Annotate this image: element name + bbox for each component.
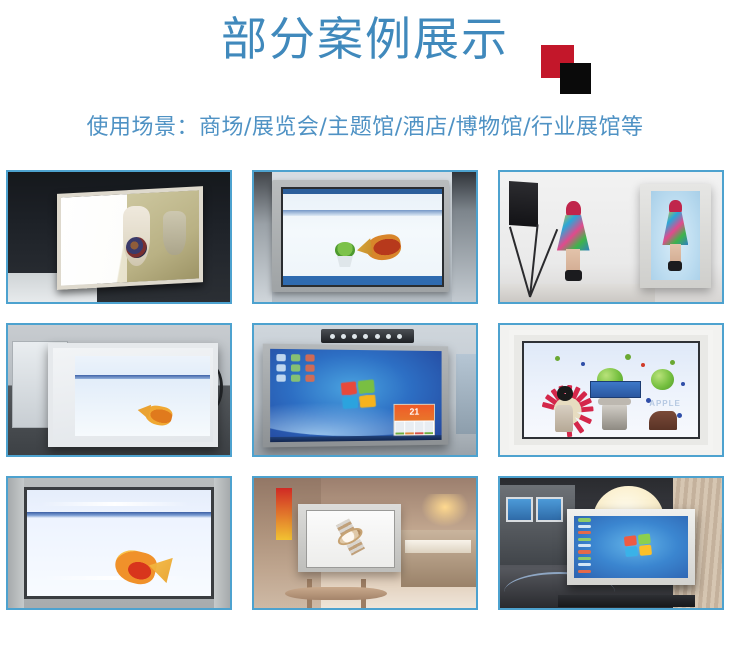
hologram-dress-shape: [662, 212, 688, 245]
water-line-shape: [27, 512, 212, 517]
weather-widget: 21: [394, 403, 436, 436]
right-cabinet-decor: [456, 354, 476, 435]
display-box-inner: [306, 510, 396, 567]
desktop-icons-group: [578, 518, 592, 572]
display-base-shape: [558, 595, 696, 607]
pot-shape: [337, 256, 353, 268]
photo-cosmetics-transparent-showcase: APPLE: [500, 325, 722, 455]
display-screen-shape: [281, 187, 445, 287]
page-header: 部分案例展示 使用场景：商场/展览会/主题馆/酒店/博物馆/行业展馆等: [0, 0, 730, 160]
photo-expo-transparent-display-win7: [500, 478, 722, 608]
display-frame-shape: [272, 180, 450, 292]
photo-showcase-aquarium: [8, 325, 230, 455]
water-line-shape: [283, 210, 443, 217]
jewelry-counter-shape: [401, 530, 476, 587]
screen-top-bar: [283, 189, 443, 195]
top-light-strip: [41, 502, 189, 506]
page-subtitle: 使用场景：商场/展览会/主题馆/酒店/博物馆/行业展馆等: [0, 113, 730, 143]
left-wall-decor: [254, 172, 272, 302]
gallery-item-case-7[interactable]: [6, 476, 232, 610]
windows-logo-icon: [624, 533, 652, 557]
windows-desktop-shape: [574, 516, 687, 578]
right-frame-shape: [214, 478, 230, 608]
holographic-box-shape: [640, 184, 711, 288]
hologram-hair-shape: [669, 200, 681, 214]
photo-holographic-vase-cabinet: [8, 172, 230, 302]
goldfish-shape: [112, 547, 159, 588]
plant-shape: [335, 242, 354, 257]
tripod-shape: [513, 224, 544, 297]
lipstick-fan-shape: [545, 367, 590, 409]
watch-shape: [327, 514, 374, 561]
tank-interior-shape: [27, 490, 212, 596]
model-shape: [556, 201, 592, 282]
gallery-item-case-8[interactable]: [252, 476, 478, 610]
vase-shape: [123, 206, 150, 266]
black-ring-shape: [557, 386, 572, 400]
light-bar-shape: [321, 329, 414, 343]
round-table-shape: [285, 587, 387, 600]
photo-aquarium-closeup: [8, 478, 230, 608]
case-gallery: 21: [6, 170, 724, 610]
model-legs-shape: [566, 249, 580, 272]
water-line-shape: [75, 375, 209, 379]
left-booth-shape: [500, 485, 575, 566]
shoe-shape: [649, 411, 677, 430]
transparent-display-shape: [567, 509, 696, 584]
photo-studio-model-holobox: [500, 172, 722, 302]
gallery-item-case-2[interactable]: [252, 170, 478, 304]
weather-widget-temperature: 21: [395, 404, 435, 420]
showcase-frame-shape: [48, 343, 218, 447]
desktop-taskbar: [271, 434, 442, 442]
weather-widget-forecast: [395, 420, 435, 435]
showcase-cabinet-shape: APPLE: [509, 330, 713, 450]
transparent-display-box-shape: [298, 504, 400, 572]
studio-light-shape: [509, 181, 538, 227]
gallery-item-case-4[interactable]: [6, 323, 232, 457]
booth-screen-shape: [506, 497, 533, 522]
page-title: 部分案例展示: [221, 10, 509, 68]
goldfish-shape: [364, 232, 402, 262]
title-row: 部分案例展示: [0, 10, 730, 68]
model-boots-shape: [565, 270, 582, 281]
right-wall-decor: [452, 172, 476, 302]
hologram-model-shape: [662, 200, 689, 272]
banner-decor: [276, 488, 292, 540]
showcase-inner-shape: APPLE: [522, 341, 701, 440]
gallery-item-case-1[interactable]: [6, 170, 232, 304]
hologram-legs-shape: [670, 244, 681, 263]
green-bubble-shape: [651, 369, 674, 390]
tank-frame-shape: [24, 487, 215, 599]
photo-watch-display-jewelry-store: [254, 478, 476, 608]
photo-large-transparent-display-win7: 21: [254, 325, 476, 455]
booth-screen-shape: [536, 497, 563, 522]
photo-transparent-lcd-aquarium: [254, 172, 476, 302]
store-light-decor: [421, 494, 470, 528]
display-bezel-shape: 21: [263, 343, 449, 447]
model-dress-shape: [557, 215, 590, 250]
gallery-item-case-9[interactable]: [498, 476, 724, 610]
goldfish-shape: [143, 403, 173, 427]
left-frame-shape: [8, 478, 24, 608]
vase-secondary-shape: [163, 211, 185, 255]
gallery-item-case-6[interactable]: APPLE: [498, 323, 724, 457]
holographic-box-inner: [651, 191, 699, 280]
windows-desktop-shape: 21: [271, 348, 442, 442]
hologram-boots-shape: [668, 261, 682, 271]
gallery-item-case-3[interactable]: [498, 170, 724, 304]
windows-logo-icon: [341, 379, 377, 409]
info-screen-shape: [590, 381, 641, 398]
brand-text: APPLE: [649, 399, 681, 408]
cup-shape: [602, 403, 626, 429]
gallery-item-case-5[interactable]: 21: [252, 323, 478, 457]
bottle-shape: [555, 405, 572, 431]
showcase-glass-shape: [75, 356, 209, 436]
screen-bottom-bar: [283, 276, 443, 285]
desktop-icons-group: [276, 353, 315, 381]
